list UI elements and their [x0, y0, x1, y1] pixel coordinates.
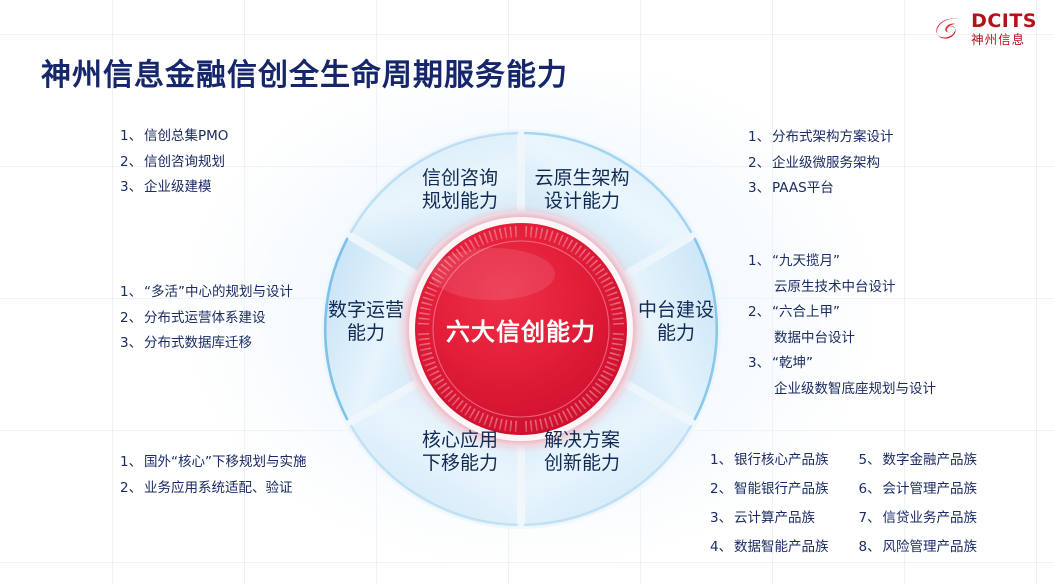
- list-text: 信创咨询规划: [144, 156, 225, 170]
- segment-label-line2: 下移能力: [390, 452, 530, 475]
- list-item: 4、 数据智能产品族: [710, 535, 829, 555]
- list-top-left: 1、 信创总集PMO 2、 信创咨询规划 3、 企业级建模: [120, 130, 228, 207]
- logo-cn: 神州信息: [971, 34, 1037, 47]
- logo-en: DCITS: [971, 12, 1037, 31]
- list-top-right: 1、 分布式架构方案设计 2、 企业级微服务架构 3、 PAAS平台: [748, 131, 894, 208]
- list-text: 分布式数据库迁移: [144, 337, 252, 351]
- list-text: “六合上甲”: [772, 306, 840, 320]
- segment-label-line2: 设计能力: [512, 190, 652, 213]
- list-index: 3、: [748, 182, 772, 196]
- list-text: 云计算产品族: [734, 506, 815, 526]
- segment-label-cloud-native-architecture: 云原生架构 设计能力: [512, 167, 652, 213]
- segment-label-line1: 数字运营: [301, 299, 431, 322]
- list-text: 国外“核心”下移规划与实施: [144, 456, 307, 470]
- list-item: 1、 分布式架构方案设计: [748, 131, 894, 145]
- core-gloss: [431, 248, 555, 300]
- segment-label-line2: 能力: [611, 322, 741, 345]
- list-text: 智能银行产品族: [734, 477, 829, 497]
- list-text: 业务应用系统适配、验证: [144, 482, 293, 496]
- list-item: 2、 分布式运营体系建设: [120, 312, 293, 326]
- product-family-column-left: 1、 银行核心产品族 2、 智能银行产品族 3、 云计算产品族 4、 数据智能产…: [710, 448, 829, 564]
- segment-label-line2: 创新能力: [512, 452, 652, 475]
- list-item: 3、 云计算产品族: [710, 506, 829, 526]
- list-text: 数据智能产品族: [734, 535, 829, 555]
- list-index: 2、: [120, 156, 144, 170]
- list-item: 1、 “九天揽月”: [748, 255, 936, 269]
- list-item: 2、 企业级微服务架构: [748, 157, 894, 171]
- list-text: 银行核心产品族: [734, 448, 829, 468]
- list-item: 5、 数字金融产品族: [859, 448, 978, 468]
- page-title: 神州信息金融信创全生命周期服务能力: [41, 50, 568, 94]
- segment-label-digital-operation: 数字运营 能力: [301, 299, 431, 345]
- list-subtext: 云原生技术中台设计: [774, 281, 936, 295]
- list-text: 信创总集PMO: [144, 130, 228, 144]
- list-index: 3、: [120, 337, 144, 351]
- list-middle-right: 1、 “九天揽月” 云原生技术中台设计 2、 “六合上甲” 数据中台设计 3、 …: [748, 255, 936, 408]
- segment-label-line2: 能力: [301, 322, 431, 345]
- list-index: 2、: [748, 157, 772, 171]
- list-item: 2、 业务应用系统适配、验证: [120, 482, 307, 496]
- segment-label-line1: 解决方案: [512, 429, 652, 452]
- segment-label-line2: 规划能力: [390, 190, 530, 213]
- list-text: 分布式架构方案设计: [772, 131, 894, 145]
- list-item: 3、 企业级建模: [120, 181, 228, 195]
- list-bottom-left: 1、 国外“核心”下移规划与实施 2、 业务应用系统适配、验证: [120, 456, 307, 507]
- list-item: 1、 信创总集PMO: [120, 130, 228, 144]
- list-text: 企业级微服务架构: [772, 157, 880, 171]
- list-index: 8、: [859, 535, 883, 555]
- list-subtext: 企业级数智底座规划与设计: [774, 383, 936, 397]
- list-item: 2、 信创咨询规划: [120, 156, 228, 170]
- list-index: 2、: [120, 482, 144, 496]
- list-index: 3、: [710, 506, 734, 526]
- list-bottom-right: 1、 银行核心产品族 2、 智能银行产品族 3、 云计算产品族 4、 数据智能产…: [710, 448, 977, 564]
- list-index: 6、: [859, 477, 883, 497]
- list-index: 3、: [748, 357, 772, 371]
- segment-label-line1: 云原生架构: [512, 167, 652, 190]
- segment-label-core-app-downshift: 核心应用 下移能力: [390, 429, 530, 475]
- list-item: 8、 风险管理产品族: [859, 535, 978, 555]
- list-text: “乾坤”: [772, 357, 813, 371]
- list-item: 3、 分布式数据库迁移: [120, 337, 293, 351]
- list-middle-left: 1、 “多活”中心的规划与设计 2、 分布式运营体系建设 3、 分布式数据库迁移: [120, 286, 293, 363]
- list-index: 1、: [120, 456, 144, 470]
- list-text: 会计管理产品族: [883, 477, 978, 497]
- segment-label-xinchuang-consulting: 信创咨询 规划能力: [390, 167, 530, 213]
- list-index: 7、: [859, 506, 883, 526]
- list-item: 7、 信贷业务产品族: [859, 506, 978, 526]
- segment-label-line1: 信创咨询: [390, 167, 530, 190]
- list-index: 1、: [120, 130, 144, 144]
- list-index: 2、: [748, 306, 772, 320]
- list-item: 3、 “乾坤”: [748, 357, 936, 371]
- list-index: 1、: [120, 286, 144, 300]
- list-index: 2、: [710, 477, 734, 497]
- segment-label-solution-innovation: 解决方案 创新能力: [512, 429, 652, 475]
- list-subtext: 数据中台设计: [774, 332, 936, 346]
- dcits-swirl-logo-icon: [934, 14, 964, 44]
- segment-label-line1: 中台建设: [611, 299, 741, 322]
- list-item: 1、 国外“核心”下移规划与实施: [120, 456, 307, 470]
- capability-wheel: 信创咨询 规划能力 云原生架构 设计能力 中台建设 能力 解决方案 创新能力 核…: [261, 124, 781, 534]
- list-index: 5、: [859, 448, 883, 468]
- list-text: “九天揽月”: [772, 255, 840, 269]
- wheel-center-label: 六大信创能力: [421, 312, 621, 347]
- product-family-column-right: 5、 数字金融产品族 6、 会计管理产品族 7、 信贷业务产品族 8、 风险管理…: [859, 448, 978, 564]
- list-text: 分布式运营体系建设: [144, 312, 266, 326]
- list-index: 1、: [748, 255, 772, 269]
- list-text: 风险管理产品族: [883, 535, 978, 555]
- list-text: 信贷业务产品族: [883, 506, 978, 526]
- list-item: 6、 会计管理产品族: [859, 477, 978, 497]
- list-index: 1、: [710, 448, 734, 468]
- logo-text: DCITS 神州信息: [971, 12, 1037, 47]
- list-text: 数字金融产品族: [883, 448, 978, 468]
- list-text: “多活”中心的规划与设计: [144, 286, 293, 300]
- list-item: 2、 智能银行产品族: [710, 477, 829, 497]
- list-item: 1、 “多活”中心的规划与设计: [120, 286, 293, 300]
- segment-label-line1: 核心应用: [390, 429, 530, 452]
- list-item: 3、 PAAS平台: [748, 182, 894, 196]
- dcits-logo: DCITS 神州信息: [934, 12, 1037, 47]
- list-index: 3、: [120, 181, 144, 195]
- list-text: PAAS平台: [772, 182, 834, 196]
- list-item: 1、 银行核心产品族: [710, 448, 829, 468]
- list-index: 1、: [748, 131, 772, 145]
- list-index: 4、: [710, 535, 734, 555]
- list-item: 2、 “六合上甲”: [748, 306, 936, 320]
- list-index: 2、: [120, 312, 144, 326]
- list-text: 企业级建模: [144, 181, 212, 195]
- segment-label-midend-construction: 中台建设 能力: [611, 299, 741, 345]
